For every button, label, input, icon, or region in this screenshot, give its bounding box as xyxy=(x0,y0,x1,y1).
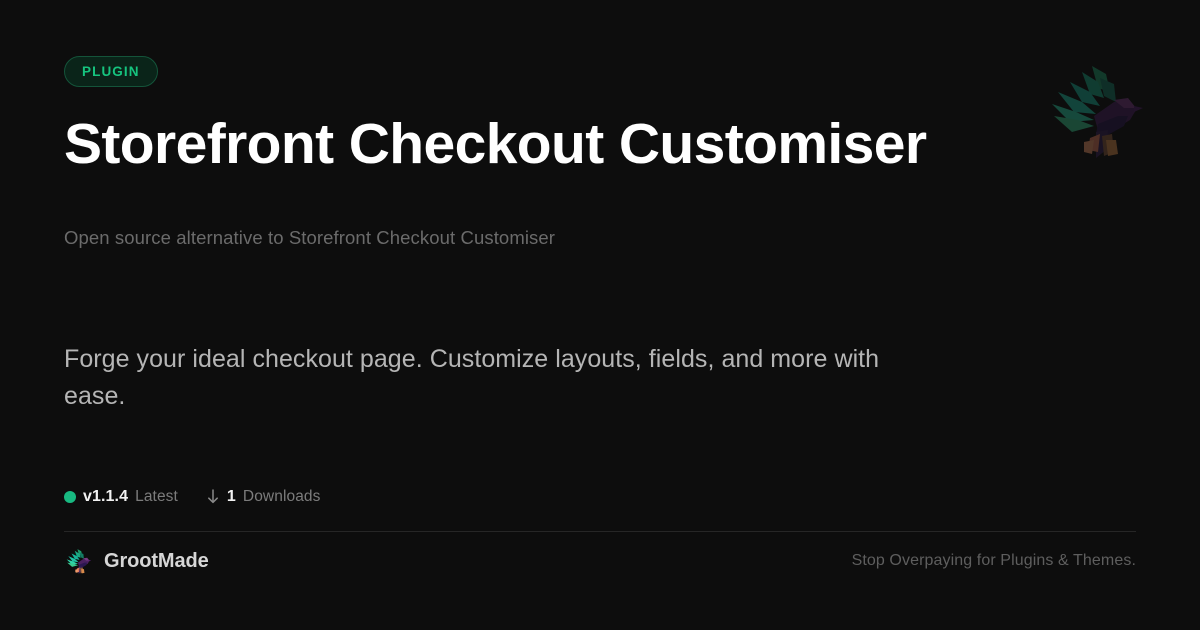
og-preview-card: PLUGIN Storefront Checkout Customiser Op… xyxy=(0,0,1200,630)
footer-divider xyxy=(64,531,1136,532)
page-subtitle: Open source alternative to Storefront Ch… xyxy=(64,225,555,251)
stat-version: v1.1.4 Latest xyxy=(64,489,178,505)
version-label: Latest xyxy=(135,489,178,505)
brand-name: GrootMade xyxy=(104,551,209,571)
download-arrow-icon xyxy=(206,489,220,505)
page-description: Forge your ideal checkout page. Customiz… xyxy=(64,341,904,415)
stats-row: v1.1.4 Latest 1 Downloads xyxy=(64,486,321,508)
hummingbird-logo-icon xyxy=(64,547,92,575)
card-footer: GrootMade Stop Overpaying for Plugins & … xyxy=(64,547,1136,575)
status-dot-icon xyxy=(64,491,76,503)
badge-row: PLUGIN xyxy=(64,56,158,87)
page-title: Storefront Checkout Customiser xyxy=(64,113,926,177)
hummingbird-watermark-icon xyxy=(1044,58,1144,162)
status-badge: PLUGIN xyxy=(64,56,158,87)
brand: GrootMade xyxy=(64,547,209,575)
stat-downloads: 1 Downloads xyxy=(206,489,321,505)
downloads-label: Downloads xyxy=(243,489,321,505)
version-value: v1.1.4 xyxy=(83,489,128,505)
downloads-value: 1 xyxy=(227,489,236,505)
footer-tagline: Stop Overpaying for Plugins & Themes. xyxy=(852,553,1136,569)
